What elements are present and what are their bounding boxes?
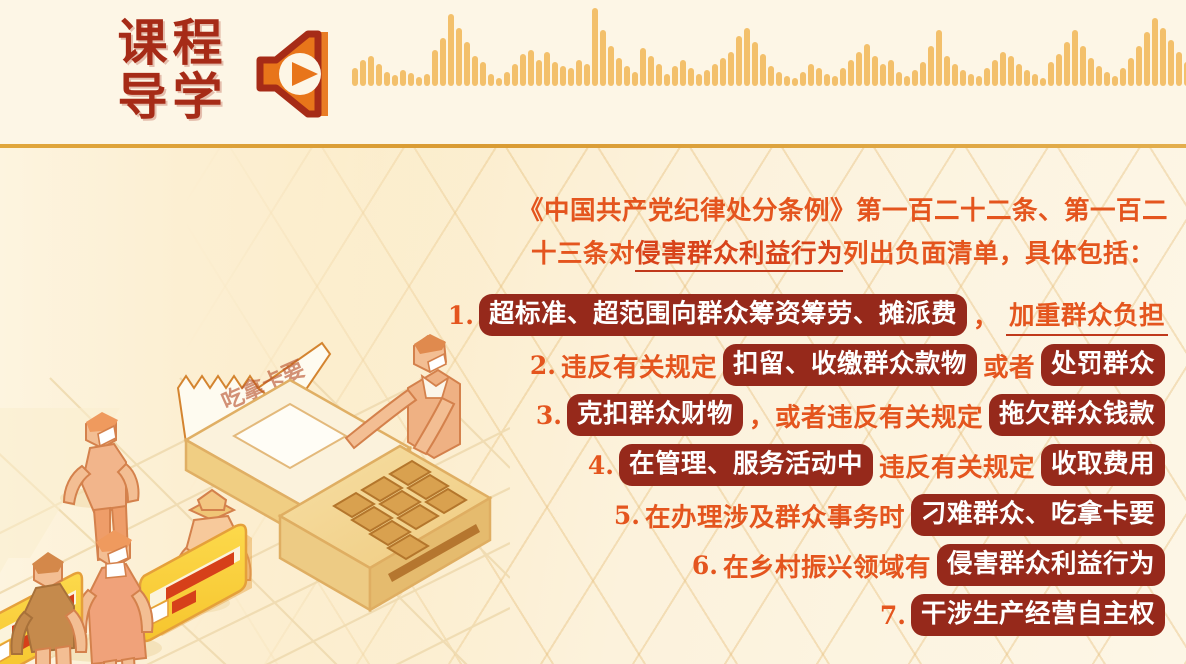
waveform-bar — [984, 68, 990, 86]
list-item: 6.在乡村振兴领域有侵害群众利益行为 — [518, 540, 1168, 590]
intro-line-1: 《中国共产党纪律处分条例》第一百二十二条、第一百二 — [518, 190, 1168, 233]
waveform-bar — [1008, 56, 1014, 86]
waveform-bar — [848, 60, 854, 86]
waveform-bar — [704, 70, 710, 86]
list-item-text: 在乡村振兴领域有 — [720, 547, 934, 584]
waveform-bar — [856, 52, 862, 86]
waveform-bar — [1016, 64, 1022, 86]
intro-line-2-pre: 十三条对 — [531, 239, 635, 269]
list-item-number: 1. — [448, 301, 474, 330]
waveform-bar — [896, 72, 902, 86]
list-item-text: 或者 — [980, 347, 1038, 384]
waveform-bar — [960, 70, 966, 86]
waveform-bar — [800, 72, 806, 86]
list-item: 5.在办理涉及群众事务时刁难群众、吃拿卡要 — [518, 490, 1168, 540]
list-item-badge: 扣留、收缴群众款物 — [723, 344, 977, 386]
waveform-bar — [448, 14, 454, 86]
waveform-bar — [408, 73, 414, 86]
logo-char-4: 学 — [169, 70, 224, 124]
list-item-badge: 刁难群众、吃拿卡要 — [911, 494, 1165, 536]
list-item-badge: 克扣群众财物 — [567, 394, 743, 436]
waveform-bar — [1096, 66, 1102, 86]
intro-line-2: 十三条对侵害群众利益行为列出负面清单，具体包括： — [518, 233, 1168, 276]
logo-char-2: 程 — [169, 16, 224, 70]
waveform-bar — [472, 56, 478, 86]
waveform-bar — [928, 46, 934, 86]
list-item-badge: 收取费用 — [1041, 444, 1165, 486]
waveform-bar — [880, 64, 886, 86]
waveform-bar — [992, 60, 998, 86]
waveform-bar — [1112, 76, 1118, 86]
waveform-bar — [1168, 40, 1174, 86]
waveform-bar — [784, 76, 790, 86]
list-item-badge: 在管理、服务活动中 — [619, 444, 873, 486]
waveform-bar — [944, 56, 950, 86]
waveform-bar — [464, 42, 470, 86]
waveform-bar — [728, 52, 734, 86]
waveform-bar — [576, 60, 582, 86]
waveform-bar — [1064, 42, 1070, 86]
waveform-bar — [816, 68, 822, 86]
list-item: 1.超标准、超范围向群众筹资筹劳、摊派费，加重群众负担 — [518, 290, 1168, 340]
waveform-bar — [736, 36, 742, 86]
waveform-bar — [688, 68, 694, 86]
waveform-bar — [1088, 58, 1094, 86]
waveform-bar — [360, 60, 366, 86]
waveform-bar — [504, 72, 510, 86]
waveform-bar — [400, 70, 406, 86]
waveform-bar — [1136, 46, 1142, 86]
waveform-bar — [824, 74, 830, 86]
waveform-bar — [776, 72, 782, 86]
list-item-number: 4. — [588, 451, 614, 480]
waveform-bar — [720, 58, 726, 86]
waveform-bar — [1176, 52, 1182, 86]
waveform-bar — [1072, 30, 1078, 86]
waveform-bar — [936, 30, 942, 86]
course-guide-logo: 课 程 导 学 — [114, 16, 224, 124]
waveform-bar — [584, 64, 590, 86]
list-item-text: 在办理涉及群众事务时 — [642, 497, 908, 534]
waveform-bar — [648, 56, 654, 86]
waveform-bar — [440, 38, 446, 86]
logo-char-3: 导 — [114, 70, 169, 124]
list-item-badge: 超标准、超范围向群众筹资筹劳、摊派费 — [479, 294, 967, 336]
list-item-text: ，或者违反有关规定 — [746, 397, 986, 434]
intro-highlight: 侵害群众利益行为 — [635, 239, 843, 272]
waveform-bar — [616, 58, 622, 86]
list-item-badge: 侵害群众利益行为 — [937, 544, 1165, 586]
waveform-bar — [840, 68, 846, 86]
waveform-bar — [672, 66, 678, 86]
waveform-bar — [1160, 28, 1166, 86]
waveform-bar — [1152, 18, 1158, 86]
list-item-badge: 干涉生产经营自主权 — [911, 594, 1165, 636]
intro-paragraph: 《中国共产党纪律处分条例》第一百二十二条、第一百二 十三条对侵害群众利益行为列出… — [518, 190, 1168, 276]
waveform-bar — [632, 72, 638, 86]
waveform-bar — [1080, 46, 1086, 86]
waveform-bar — [456, 28, 462, 86]
waveform-bar — [1032, 74, 1038, 86]
waveform-bar — [392, 75, 398, 86]
speaker-play-icon[interactable] — [248, 22, 346, 126]
list-item-number: 5. — [614, 501, 640, 530]
list-item: 7.干涉生产经营自主权 — [518, 590, 1168, 640]
waveform-bar — [376, 64, 382, 86]
list-item: 4.在管理、服务活动中违反有关规定收取费用 — [518, 440, 1168, 490]
audio-waveform — [352, 0, 1186, 120]
waveform-bar — [904, 76, 910, 86]
waveform-bar — [536, 60, 542, 86]
waveform-bar — [1040, 78, 1046, 86]
waveform-bar — [624, 66, 630, 86]
waveform-bar — [768, 66, 774, 86]
waveform-bar — [1120, 68, 1126, 86]
waveform-bar — [568, 68, 574, 86]
list-item: 3.克扣群众财物，或者违反有关规定拖欠群众钱款 — [518, 390, 1168, 440]
list-item-underlined-text: 加重群众负担 — [1006, 295, 1168, 336]
waveform-bar — [1144, 32, 1150, 86]
waveform-bar — [792, 78, 798, 86]
intro-line-2-post: 列出负面清单，具体包括： — [843, 239, 1155, 269]
waveform-bar — [680, 60, 686, 86]
negative-list: 1.超标准、超范围向群众筹资筹劳、摊派费，加重群众负担2.违反有关规定扣留、收缴… — [518, 290, 1168, 640]
list-item-text: ， — [970, 297, 1002, 334]
poster-root: 课 程 导 学 — [0, 0, 1186, 664]
waveform-bar — [664, 74, 670, 86]
waveform-bar — [1048, 62, 1054, 86]
waveform-bar — [424, 74, 430, 86]
waveform-bar — [352, 68, 358, 86]
waveform-bar — [544, 52, 550, 86]
waveform-bar — [488, 74, 494, 86]
waveform-bar — [480, 62, 486, 86]
pos-terminal-queue-illustration: 吃拿卡要 — [0, 258, 510, 664]
list-item: 2.违反有关规定扣留、收缴群众款物或者处罚群众 — [518, 340, 1168, 390]
waveform-bar — [912, 70, 918, 86]
waveform-bar — [384, 72, 390, 86]
list-item-number: 6. — [692, 551, 718, 580]
clerk-figure — [346, 334, 460, 458]
waveform-bar — [864, 44, 870, 86]
list-item-number: 2. — [530, 351, 556, 380]
waveform-bar — [888, 60, 894, 86]
waveform-bar — [520, 54, 526, 86]
waveform-bar — [976, 76, 982, 86]
waveform-bar — [920, 62, 926, 86]
waveform-bar — [592, 8, 598, 86]
waveform-bar — [696, 74, 702, 86]
waveform-bar — [952, 64, 958, 86]
waveform-bar — [368, 56, 374, 86]
waveform-bar — [760, 54, 766, 86]
waveform-bar — [752, 42, 758, 86]
waveform-bar — [808, 64, 814, 86]
waveform-bar — [416, 77, 422, 86]
waveform-bar — [1024, 70, 1030, 86]
text-block: 《中国共产党纪律处分条例》第一百二十二条、第一百二 十三条对侵害群众利益行为列出… — [518, 190, 1168, 640]
waveform-bar — [1000, 52, 1006, 86]
waveform-bar — [1128, 58, 1134, 86]
waveform-bar — [560, 66, 566, 86]
list-item-number: 7. — [880, 601, 906, 630]
waveform-bar — [1104, 72, 1110, 86]
list-item-badge: 拖欠群众钱款 — [989, 394, 1165, 436]
list-item-badge: 处罚群众 — [1041, 344, 1165, 386]
waveform-bar — [656, 64, 662, 86]
waveform-bar — [496, 78, 502, 86]
list-item-text: 违反有关规定 — [558, 347, 720, 384]
header-bar: 课 程 导 学 — [0, 0, 1186, 148]
waveform-bar — [872, 56, 878, 86]
waveform-bar — [608, 46, 614, 86]
waveform-bar — [552, 62, 558, 86]
logo-char-1: 课 — [114, 16, 169, 70]
waveform-bar — [968, 74, 974, 86]
waveform-bar — [744, 28, 750, 86]
waveform-bar — [600, 30, 606, 86]
list-item-number: 3. — [536, 401, 562, 430]
waveform-bar — [432, 50, 438, 86]
waveform-bar — [832, 76, 838, 86]
waveform-bar — [640, 48, 646, 86]
waveform-bar — [512, 64, 518, 86]
waveform-bar — [1056, 54, 1062, 86]
list-item-text: 违反有关规定 — [876, 447, 1038, 484]
waveform-bar — [712, 64, 718, 86]
waveform-bar — [528, 50, 534, 86]
content-area: 吃拿卡要 — [0, 148, 1186, 664]
